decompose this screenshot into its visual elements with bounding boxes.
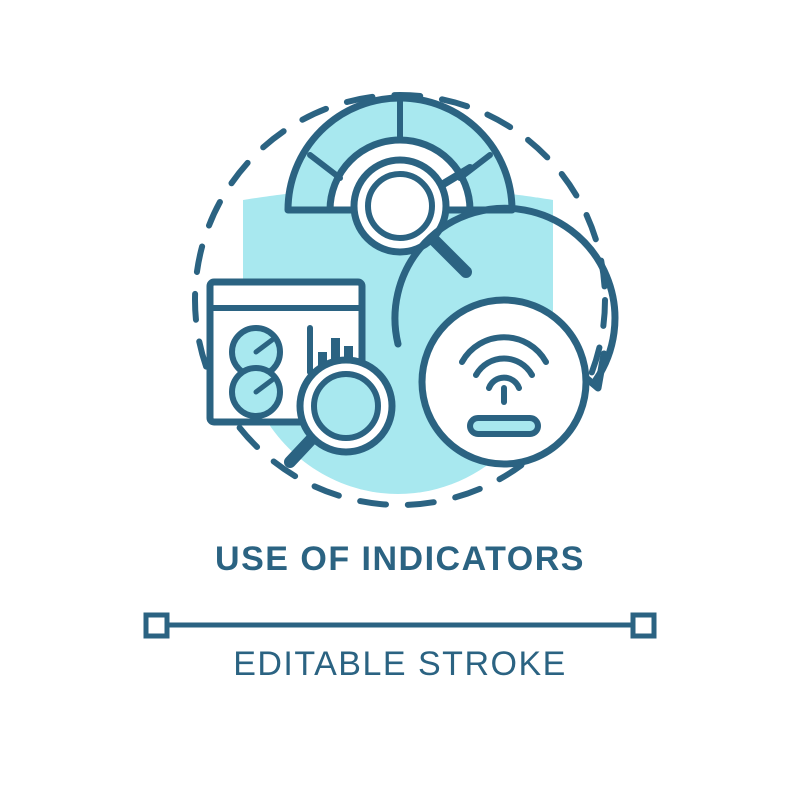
use-of-indicators-concept-icon <box>0 0 800 540</box>
square-handle-right[interactable] <box>633 615 654 636</box>
page-title: USE OF INDICATORS <box>0 540 800 579</box>
square-handle-left[interactable] <box>146 615 167 636</box>
round-meter-icon <box>422 300 586 464</box>
divider-graphic <box>0 605 800 645</box>
subtitle: EDITABLE STROKE <box>0 645 800 684</box>
small-gauge-icon <box>232 368 280 416</box>
concept-icon-canvas: USE OF INDICATORS EDITABLE STROKE <box>0 0 800 800</box>
illustration-area <box>0 0 800 540</box>
editable-stroke-divider <box>0 605 800 645</box>
